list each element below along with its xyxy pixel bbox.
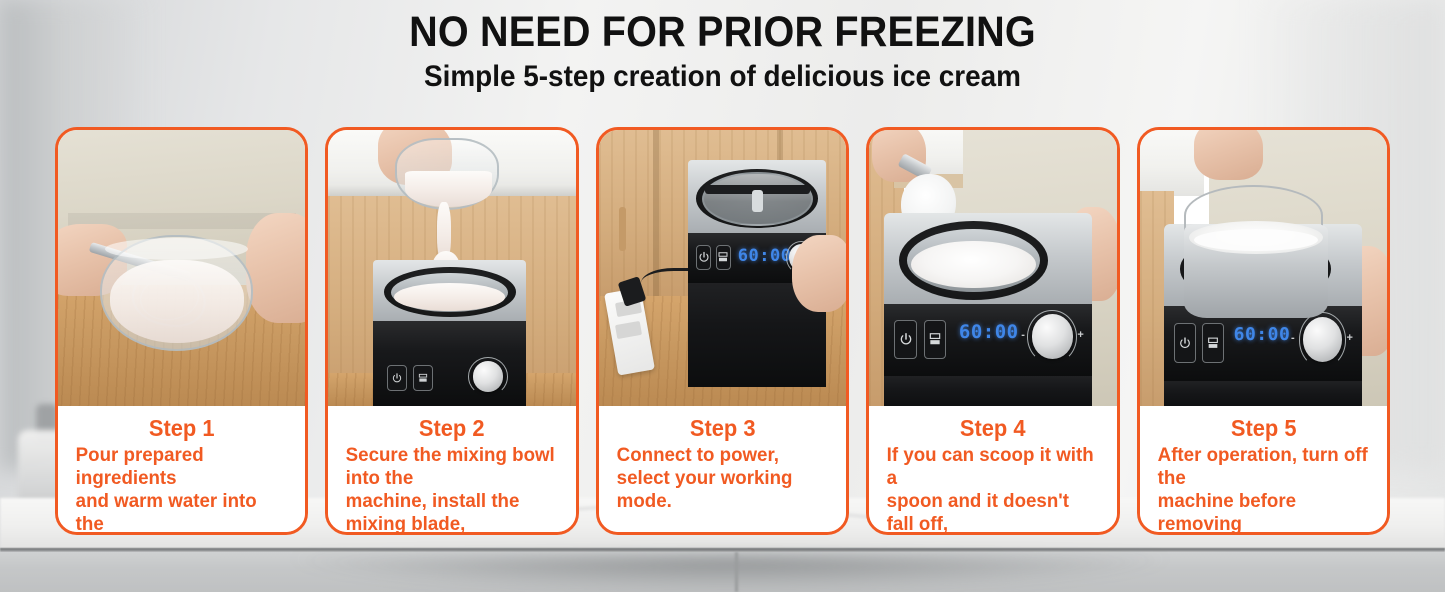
step-label: Step 4 xyxy=(885,415,1101,442)
rotary-knob[interactable] xyxy=(1303,317,1343,362)
step-text-2: Step 2 Secure the mixing bowl into the m… xyxy=(328,406,575,535)
machine-panel: 60:00 - + xyxy=(884,304,1092,376)
ice-cream-machine xyxy=(373,260,526,406)
step-card-1: Step 1 Pour prepared ingredients and war… xyxy=(55,127,308,535)
machine-body xyxy=(1164,381,1362,406)
scene-scoop-test: 60:00 - + xyxy=(869,130,1116,406)
cabinet-handle xyxy=(619,207,626,251)
right-hand xyxy=(246,213,305,323)
timer-display: 60:00 xyxy=(738,246,792,266)
rotary-knob[interactable] xyxy=(473,361,504,392)
scene-whisking-bowl xyxy=(58,130,305,406)
scene-remove-bowl: 60:00 - + xyxy=(1140,130,1387,406)
step-description: Pour prepared ingredients and warm water… xyxy=(68,444,286,535)
step-photo-1 xyxy=(58,130,305,406)
power-icon xyxy=(698,251,710,263)
minus-label: - xyxy=(1291,332,1295,344)
machine-body xyxy=(884,376,1092,406)
scene-connect-power: 60:00 xyxy=(599,130,846,406)
step-description: Secure the mixing bowl into the machine,… xyxy=(338,444,556,535)
step-label: Step 5 xyxy=(1155,415,1371,442)
machine-panel xyxy=(373,321,526,406)
power-button[interactable] xyxy=(894,320,917,359)
step-photo-3: 60:00 xyxy=(599,130,846,406)
power-button[interactable] xyxy=(696,245,711,270)
step-photo-5: 60:00 - + xyxy=(1140,130,1387,406)
step-description: Connect to power, select your working mo… xyxy=(609,444,827,513)
power-button[interactable] xyxy=(1174,323,1196,364)
left-hand xyxy=(1194,130,1263,180)
scene-pouring-mixture xyxy=(328,130,575,406)
step-photo-2 xyxy=(328,130,575,406)
timer-display: 60:00 xyxy=(1234,324,1291,345)
background-panel-seam xyxy=(735,552,738,592)
step-label: Step 1 xyxy=(74,415,290,442)
step-card-4: 60:00 - + Step 4 If you can scoop it wit… xyxy=(866,127,1119,535)
hand-on-knob xyxy=(792,235,846,312)
step-text-4: Step 4 If you can scoop it with a spoon … xyxy=(869,406,1116,535)
cream-in-machine xyxy=(394,283,504,311)
power-icon xyxy=(899,332,913,346)
mode-button[interactable] xyxy=(924,320,947,359)
step-description: After operation, turn off the machine be… xyxy=(1150,444,1368,535)
step-description: If you can scoop it with a spoon and it … xyxy=(879,444,1097,535)
lid-knob xyxy=(752,190,763,213)
steps-container: Step 1 Pour prepared ingredients and war… xyxy=(55,127,1390,535)
page-title: NO NEED FOR PRIOR FREEZING xyxy=(58,8,1387,56)
infographic-page: NO NEED FOR PRIOR FREEZING Simple 5-step… xyxy=(0,0,1445,592)
rotary-knob[interactable] xyxy=(1032,314,1074,358)
mode-menu-icon xyxy=(417,372,428,383)
step-label: Step 2 xyxy=(344,415,560,442)
step-text-1: Step 1 Pour prepared ingredients and war… xyxy=(58,406,305,535)
power-button[interactable] xyxy=(387,365,407,390)
bowl-rim-highlight xyxy=(105,238,248,260)
mode-button[interactable] xyxy=(716,245,731,270)
step-label: Step 3 xyxy=(614,415,830,442)
cream-in-bowl xyxy=(405,171,492,207)
timer-display: 60:00 xyxy=(959,321,1019,343)
step-card-2: Step 2 Secure the mixing bowl into the m… xyxy=(325,127,578,535)
step-text-3: Step 3 Connect to power, select your wor… xyxy=(599,406,846,532)
power-icon xyxy=(391,372,402,383)
background-floor-shadow xyxy=(280,556,1180,592)
plus-label: + xyxy=(1346,332,1352,344)
cream-mixture xyxy=(110,260,244,343)
mode-button[interactable] xyxy=(413,365,433,390)
step-card-5: 60:00 - + Step 5 xyxy=(1137,127,1390,535)
minus-label: - xyxy=(1021,329,1025,341)
step-photo-4: 60:00 - + xyxy=(869,130,1116,406)
ice-cream-machine: 60:00 - + xyxy=(884,213,1092,406)
mode-menu-icon xyxy=(1206,337,1219,350)
page-subtitle: Simple 5-step creation of delicious ice … xyxy=(51,60,1395,94)
finished-ice-cream xyxy=(911,241,1036,289)
plus-label: + xyxy=(1077,329,1083,341)
header: NO NEED FOR PRIOR FREEZING Simple 5-step… xyxy=(0,8,1445,94)
step-text-5: Step 5 After operation, turn off the mac… xyxy=(1140,406,1387,535)
mode-button[interactable] xyxy=(1202,323,1224,364)
mode-menu-icon xyxy=(928,332,942,346)
power-icon xyxy=(1179,337,1192,350)
mode-menu-icon xyxy=(717,251,729,263)
step-card-3: 60:00 Step 3 Connect to power, select yo… xyxy=(596,127,849,535)
